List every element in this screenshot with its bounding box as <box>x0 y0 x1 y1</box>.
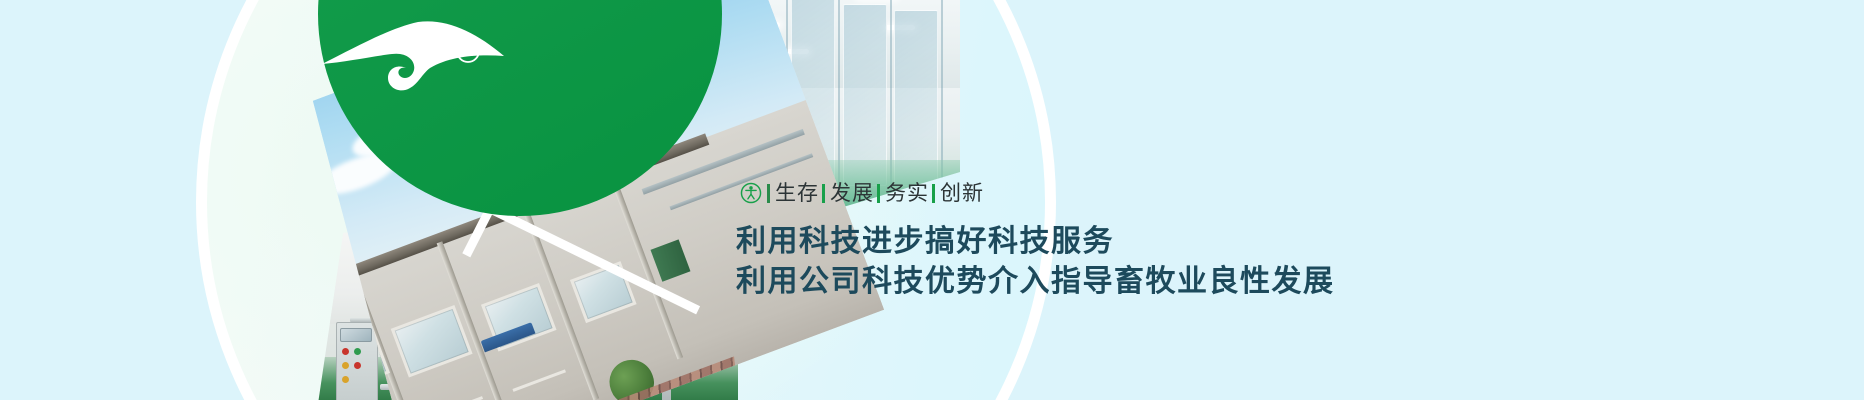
headline-line-1: 利用科技进步搞好科技服务 <box>736 222 1716 262</box>
headline-line-2: 利用公司科技优势介入指导畜牧业良性发展 <box>736 262 1716 302</box>
slogan-word-2: 发展 <box>830 183 874 204</box>
slogan-separator <box>822 184 825 203</box>
hero-banner: R 生存 发展 务实 创新 利用科技进步搞好科技服务 利用公司科技优势介入指导畜… <box>0 0 1864 400</box>
slogan-word-4: 创新 <box>940 183 984 204</box>
slogan-separator <box>877 184 880 203</box>
slogan-separator <box>767 184 770 203</box>
company-slogan: 生存 发展 务实 创新 <box>736 178 1716 208</box>
banner-text-block: 生存 发展 务实 创新 利用科技进步搞好科技服务 利用公司科技优势介入指导畜牧业… <box>736 178 1716 302</box>
slogan-separator <box>932 184 935 203</box>
person-circle-icon <box>740 182 762 204</box>
slogan-word-1: 生存 <box>775 183 819 204</box>
slogan-word-3: 务实 <box>885 183 929 204</box>
